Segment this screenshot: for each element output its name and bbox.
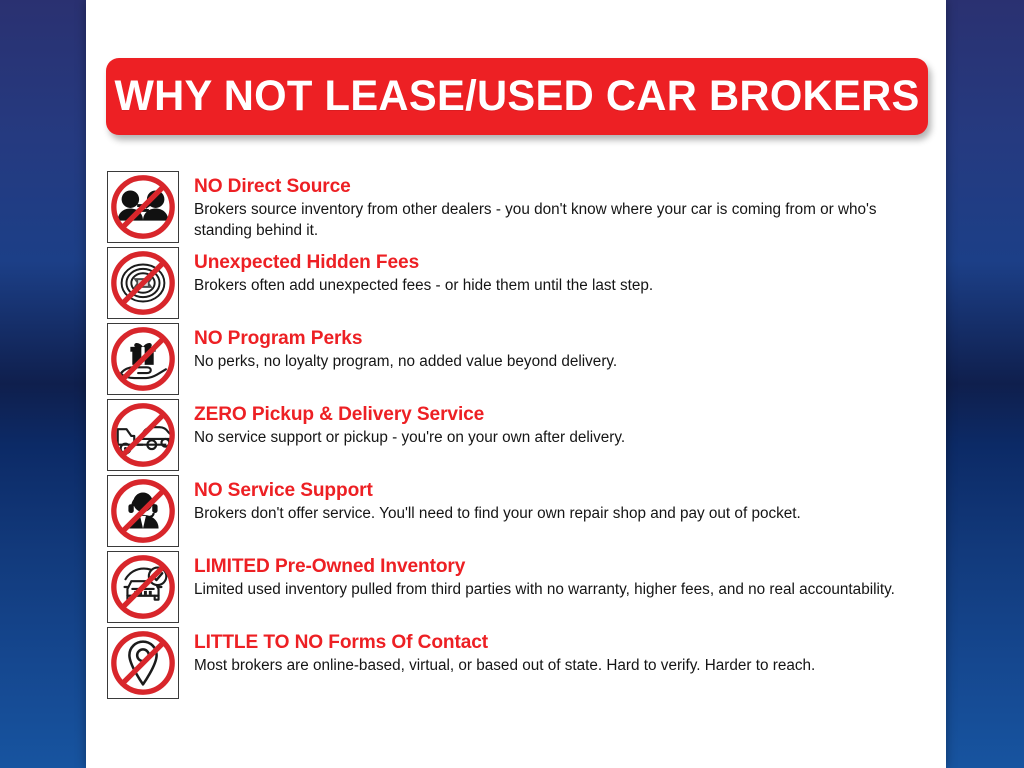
list-item-description: Most brokers are online-based, virtual, … [194, 656, 924, 677]
list-item-text: NO Program Perks No perks, no loyalty pr… [179, 323, 937, 373]
title-banner: WHY NOT LEASE/USED CAR BROKERS [106, 58, 928, 135]
list-item-title: NO Program Perks [194, 328, 922, 349]
list-item-title: Unexpected Hidden Fees [194, 252, 922, 273]
no-direct-source-icon [107, 171, 179, 243]
list-item: NO Service Support Brokers don't offer s… [107, 475, 937, 547]
list-item-description: No service support or pickup - you're on… [194, 428, 924, 449]
list-item: NO Program Perks No perks, no loyalty pr… [107, 323, 937, 395]
list-item-text: LITTLE TO NO Forms Of Contact Most broke… [179, 627, 937, 677]
list-item-text: ZERO Pickup & Delivery Service No servic… [179, 399, 937, 449]
no-pickup-delivery-icon [107, 399, 179, 471]
list-item-description: Brokers often add unexpected fees - or h… [194, 276, 924, 297]
list-item: LIMITED Pre-Owned Inventory Limited used… [107, 551, 937, 623]
list-item-title: LITTLE TO NO Forms Of Contact [194, 632, 922, 653]
list-item: Unexpected Hidden Fees Brokers often add… [107, 247, 937, 319]
no-hidden-fees-icon [107, 247, 179, 319]
list-item: NO Direct Source Brokers source inventor… [107, 171, 937, 243]
no-service-support-icon [107, 475, 179, 547]
list-item-description: Limited used inventory pulled from third… [194, 580, 924, 601]
list-item-title: NO Service Support [194, 480, 922, 501]
list-item-description: Brokers don't offer service. You'll need… [194, 504, 924, 525]
list-item-text: LIMITED Pre-Owned Inventory Limited used… [179, 551, 937, 601]
title-banner-wrapper: WHY NOT LEASE/USED CAR BROKERS [106, 58, 928, 135]
no-program-perks-icon [107, 323, 179, 395]
list-item-title: LIMITED Pre-Owned Inventory [194, 556, 922, 577]
list-item-title: ZERO Pickup & Delivery Service [194, 404, 922, 425]
page-title: WHY NOT LEASE/USED CAR BROKERS [114, 75, 919, 118]
reasons-list: NO Direct Source Brokers source inventor… [107, 171, 937, 703]
list-item-description: Brokers source inventory from other deal… [194, 200, 924, 242]
list-item: ZERO Pickup & Delivery Service No servic… [107, 399, 937, 471]
list-item-text: Unexpected Hidden Fees Brokers often add… [179, 247, 937, 297]
list-item-title: NO Direct Source [194, 176, 922, 197]
list-item-text: NO Direct Source Brokers source inventor… [179, 171, 937, 242]
list-item: LITTLE TO NO Forms Of Contact Most broke… [107, 627, 937, 699]
no-forms-of-contact-icon [107, 627, 179, 699]
list-item-description: No perks, no loyalty program, no added v… [194, 352, 924, 373]
limited-preowned-inventory-icon [107, 551, 179, 623]
list-item-text: NO Service Support Brokers don't offer s… [179, 475, 937, 525]
content-card: WHY NOT LEASE/USED CAR BROKERS [86, 0, 946, 768]
